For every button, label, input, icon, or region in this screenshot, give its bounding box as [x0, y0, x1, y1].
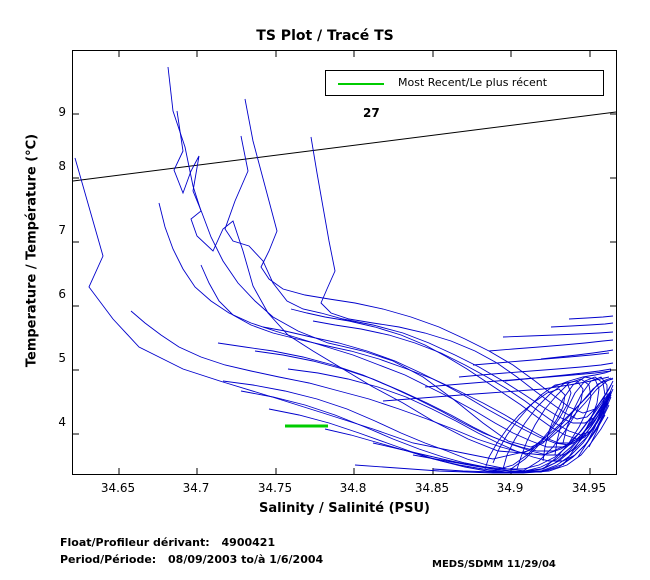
x-tick-label: 34.8	[318, 481, 388, 495]
x-axis-label: Salinity / Salinité (PSU)	[72, 501, 617, 516]
legend-item-label: Most Recent/Le plus récent	[398, 76, 547, 89]
isopycnal-annotation: 27	[363, 106, 380, 120]
page-title: TS Plot / Tracé TS	[0, 28, 650, 44]
y-tick-label: 8	[12, 159, 66, 173]
period-value: 08/09/2003 to/à 1/6/2004	[168, 553, 323, 566]
legend: Most Recent/Le plus récent	[325, 70, 604, 96]
y-tick-label: 4	[12, 415, 66, 429]
period-row: Period/Période: 08/09/2003 to/à 1/6/2004	[60, 551, 323, 568]
credit-text: MEDS/SDMM 11/29/04	[432, 559, 556, 570]
float-row: Float/Profileur dérivant: 4900421	[60, 534, 323, 551]
x-tick-label: 34.9	[475, 481, 545, 495]
isopycnal-27-line	[73, 112, 616, 181]
y-tick-label: 6	[12, 287, 66, 301]
plot-area	[72, 50, 617, 475]
x-tick-label: 34.95	[554, 481, 624, 495]
legend-color-swatch	[338, 83, 384, 85]
x-tick-label: 34.85	[397, 481, 467, 495]
ts-profile-traces	[75, 67, 613, 473]
float-value: 4900421	[222, 536, 276, 549]
y-tick-label: 5	[12, 351, 66, 365]
x-tick-label: 34.65	[83, 481, 153, 495]
period-label: Period/Période:	[60, 553, 156, 566]
x-tick-label: 34.7	[161, 481, 231, 495]
y-tick-label: 9	[12, 105, 66, 119]
float-label: Float/Profileur dérivant:	[60, 536, 210, 549]
plot-svg	[73, 51, 616, 474]
footer-info: Float/Profileur dérivant: 4900421 Period…	[60, 534, 323, 568]
x-tick-label: 34.75	[240, 481, 310, 495]
y-tick-label: 7	[12, 223, 66, 237]
y-axis-label: Temperature / Température (°C)	[25, 41, 40, 461]
ts-plot-figure: TS Plot / Tracé TS Temperature / Tempéra…	[0, 0, 650, 580]
